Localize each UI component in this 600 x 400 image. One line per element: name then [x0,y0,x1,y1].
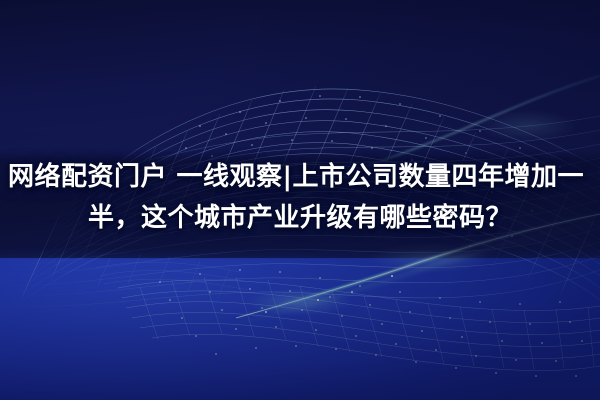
page-title: 网络配资门户 一线观察|上市公司数量四年增加一 半，这个城市产业升级有哪些密码？ [0,157,600,239]
banner-image: 网络配资门户 一线观察|上市公司数量四年增加一 半，这个城市产业升级有哪些密码？ [0,0,600,400]
headline-line-1: 网络配资门户 一线观察|上市公司数量四年增加一 [6,157,594,198]
headline-line-2: 半，这个城市产业升级有哪些密码？ [6,198,594,239]
background-lower-glow [0,258,600,400]
